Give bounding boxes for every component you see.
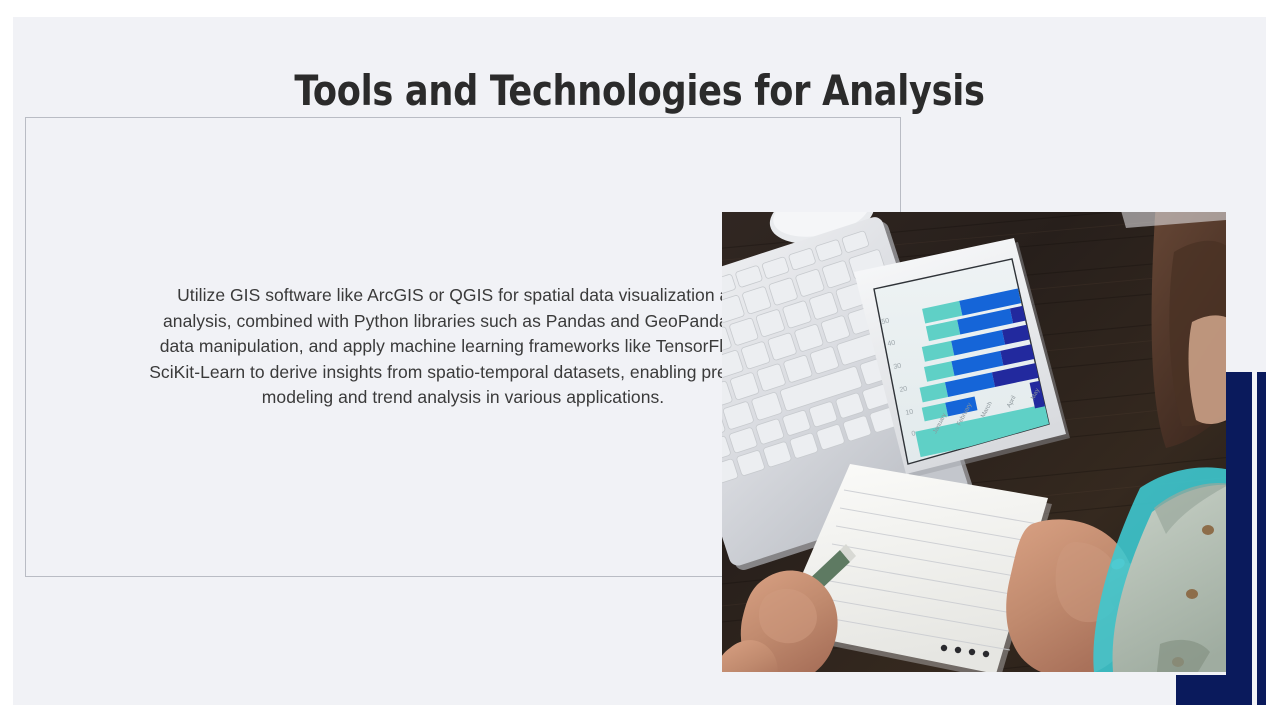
body-paragraph: Utilize GIS software like ArcGIS or QGIS… — [148, 283, 778, 411]
person-head — [1152, 212, 1226, 448]
slide-canvas: Tools and Technologies for Analysis Util… — [13, 17, 1266, 705]
navy-vertical-block — [1226, 372, 1252, 705]
desk-photo-illustration: 50 40 30 20 10 0 — [722, 212, 1226, 672]
navy-vertical-stripe — [1257, 372, 1266, 705]
page-title: Tools and Technologies for Analysis — [57, 65, 1222, 117]
navy-bottom-block — [1176, 675, 1252, 705]
desk-photo: 50 40 30 20 10 0 — [722, 212, 1226, 672]
